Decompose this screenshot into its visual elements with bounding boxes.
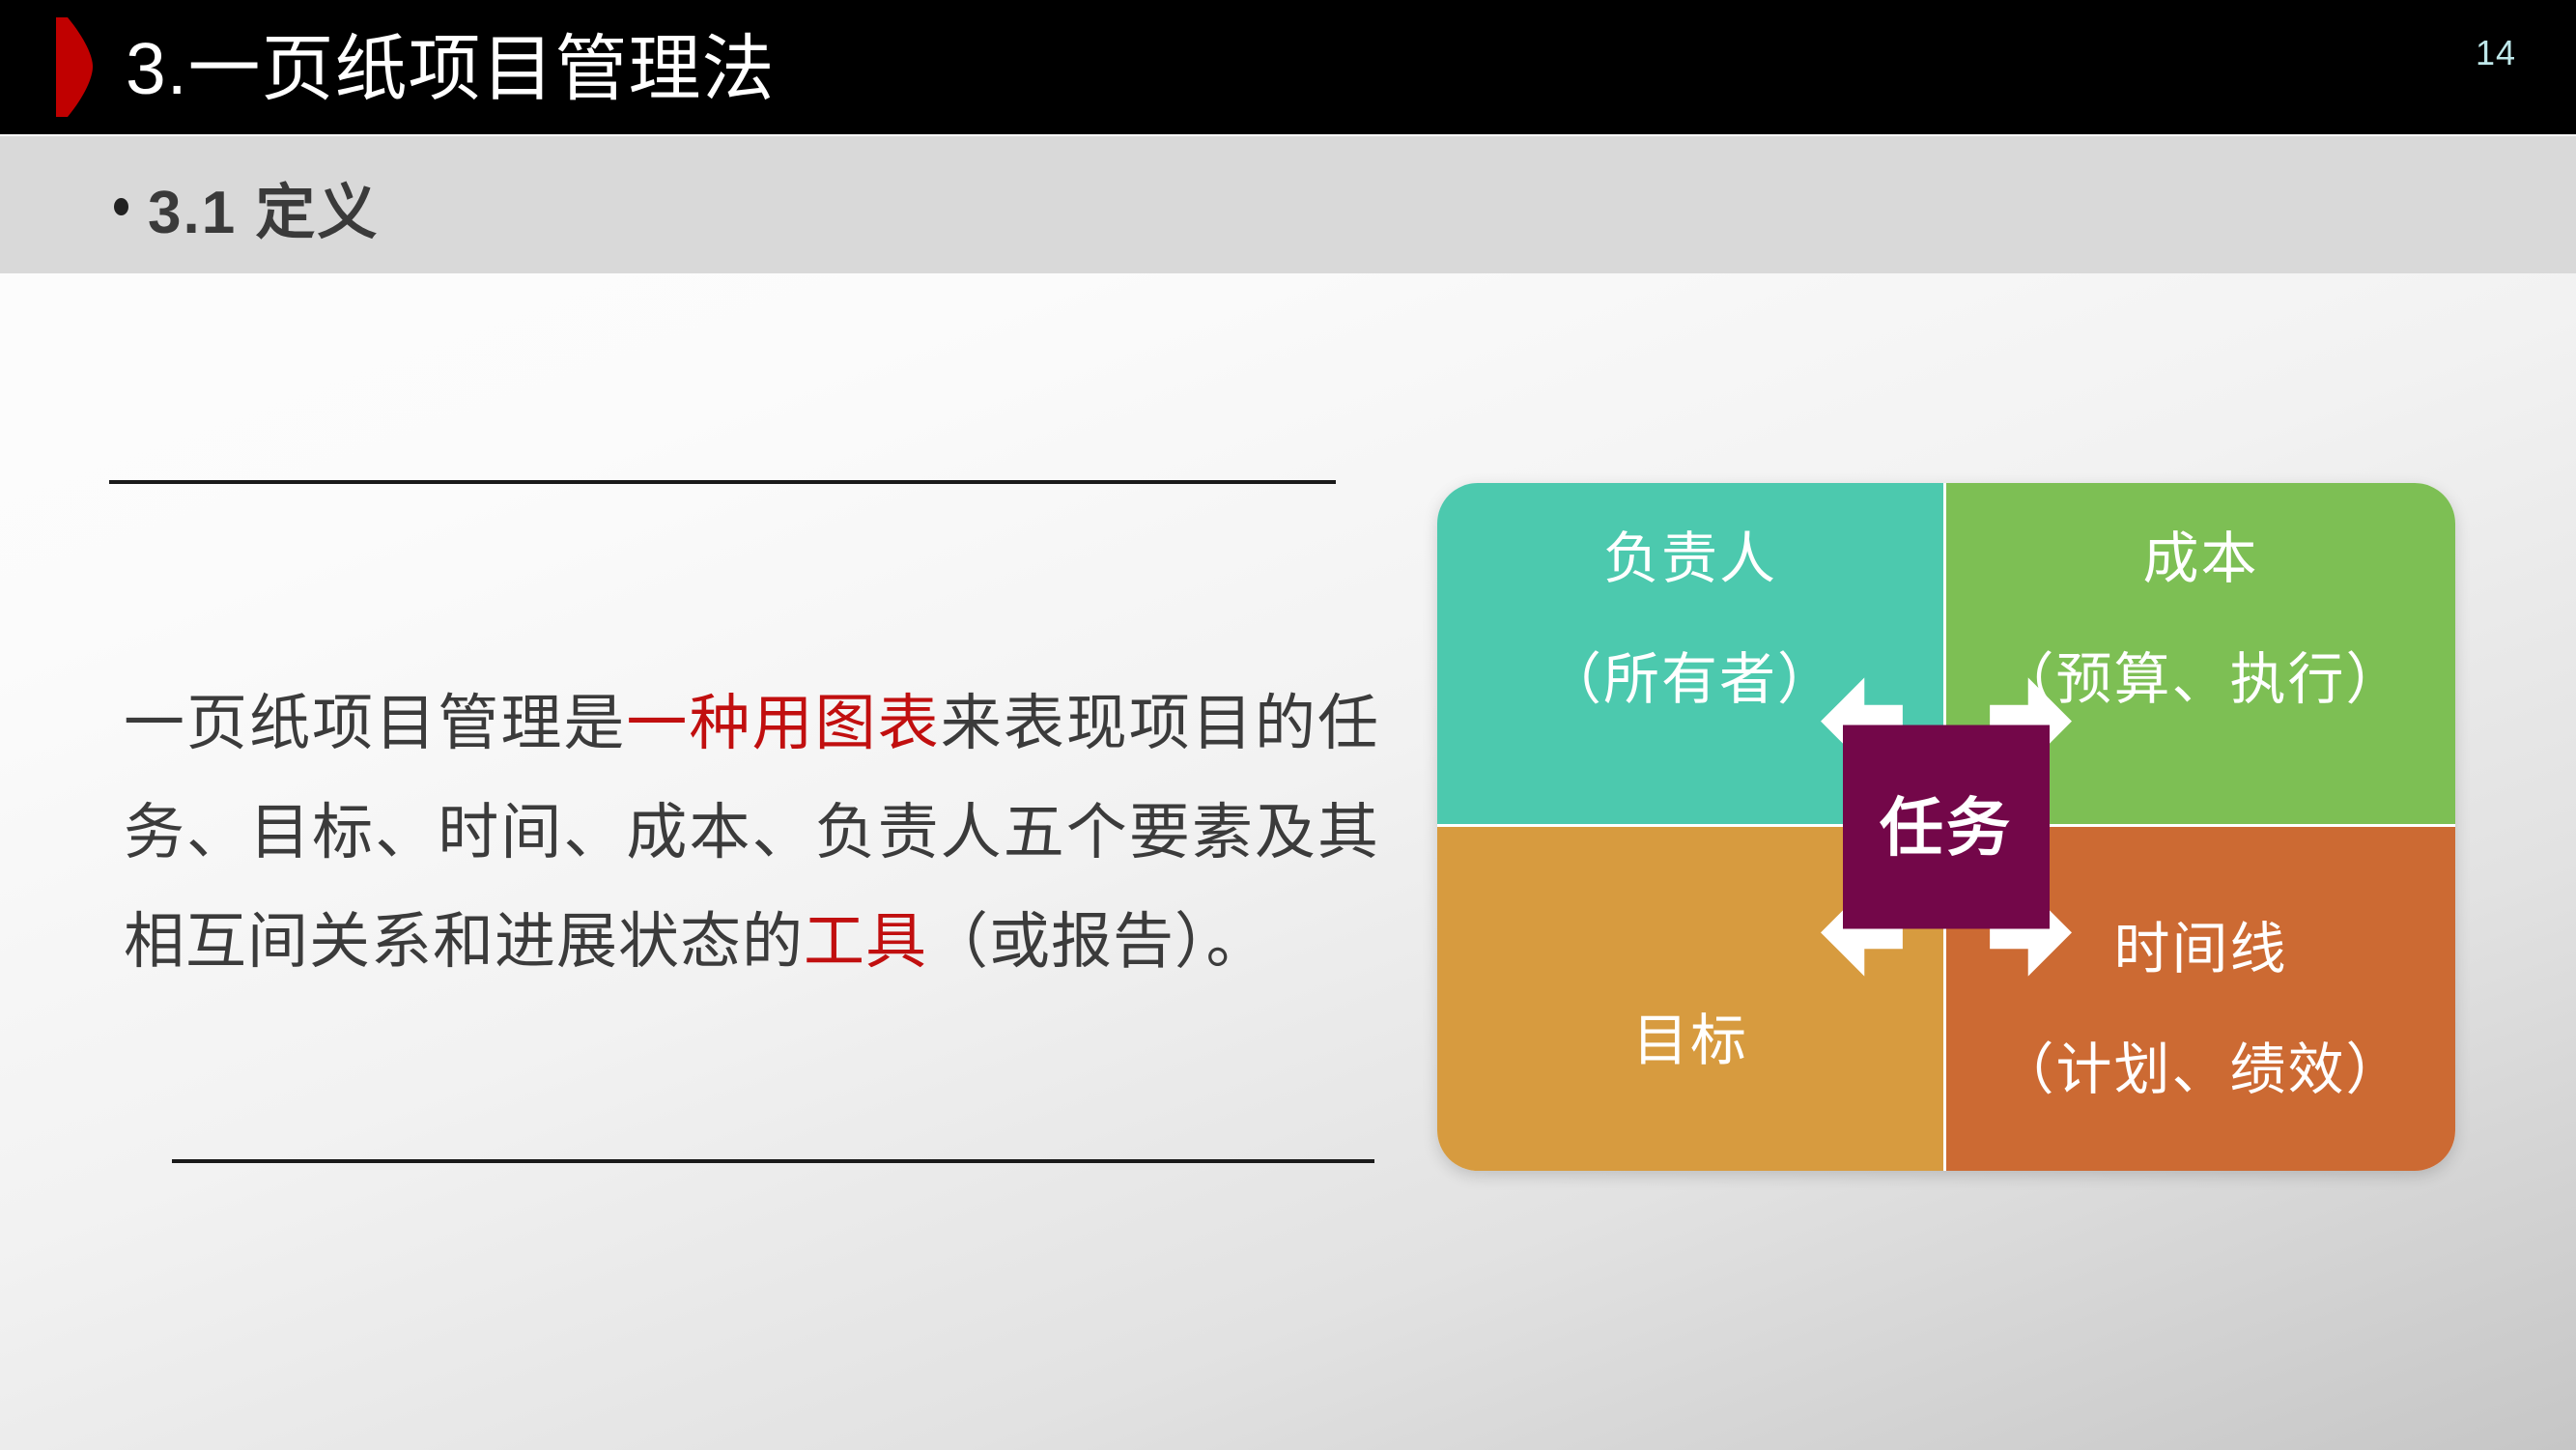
quadrant-goal-title: 目标 [1632, 1009, 1748, 1074]
red-triangle-marker-icon [56, 17, 95, 117]
quadrant-timeline-subtitle: （计划、绩效） [1997, 1038, 2403, 1103]
page-number: 14 [2476, 33, 2516, 73]
hub-task-box[interactable]: 任务 [1843, 725, 2050, 929]
subtitle-text: 3.1 定义 [148, 163, 379, 250]
definition-highlight: 工具 [804, 908, 927, 976]
slide: 3.一页纸项目管理法 14 3.1 定义 一页纸项目管理是一种用图表来表现项目的… [0, 0, 2576, 1450]
quadrant-owner-title: 负责人 [1603, 527, 1777, 592]
quadrant-diagram: 负责人 （所有者） 成本 （预算、执行） 目标 时间线 （计划、绩效） [1437, 483, 2455, 1171]
page-title: 3.一页纸项目管理法 [126, 5, 776, 132]
definition-text: 一页纸项目管理是 [124, 690, 626, 757]
bullet-icon [114, 198, 128, 215]
definition-text: （或报告）。 [927, 908, 1268, 976]
diagram-hub: 任务 [1787, 677, 2106, 977]
diagram-frame: 负责人 （所有者） 成本 （预算、执行） 目标 时间线 （计划、绩效） [1437, 483, 2455, 1171]
slide-header: 3.一页纸项目管理法 14 [0, 0, 2576, 134]
quadrant-cost-title: 成本 [2142, 527, 2258, 592]
hub-task-label: 任务 [1880, 795, 2013, 859]
subtitle-band: 3.1 定义 [0, 136, 2576, 273]
definition-paragraph: 一页纸项目管理是一种用图表来表现项目的任务、目标、时间、成本、负责人五个要素及其… [124, 669, 1379, 997]
definition-highlight: 一种用图表 [626, 690, 940, 757]
subtitle-row: 3.1 定义 [114, 163, 379, 250]
divider-top [109, 480, 1336, 484]
divider-bottom [172, 1159, 1374, 1163]
quadrant-timeline-title: 时间线 [2113, 918, 2287, 982]
